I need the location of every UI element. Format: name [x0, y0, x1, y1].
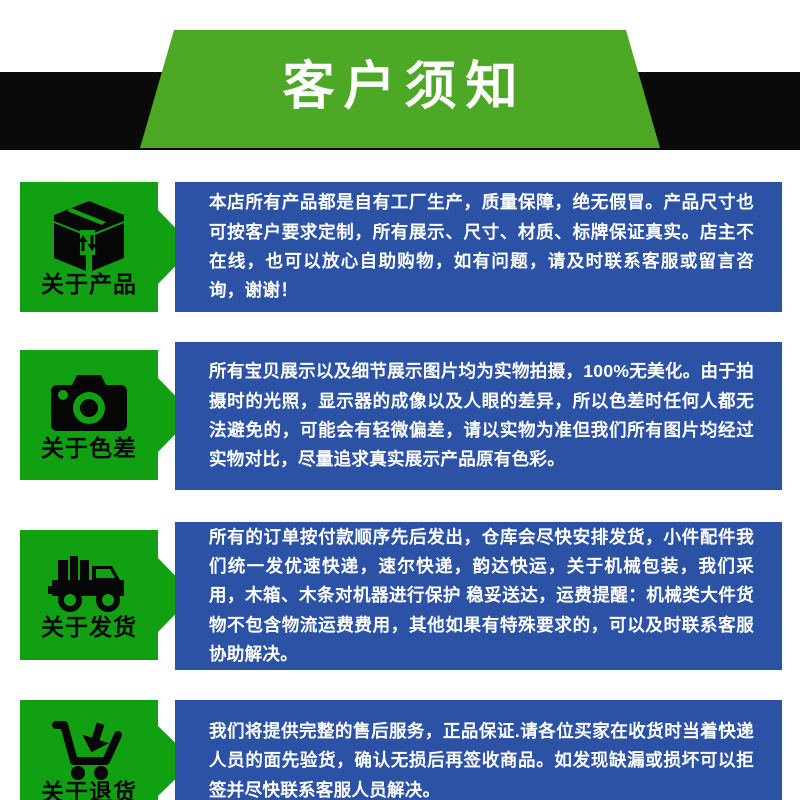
- text-panel-return: 我们将提供完整的售后服务，正品保证.请各位买家在收货时当着快递人员的面先验货，确…: [175, 700, 782, 800]
- package-box-icon: [20, 199, 158, 273]
- panel-text: 我们将提供完整的售后服务，正品保证.请各位买家在收货时当着快递人员的面先验货，确…: [175, 717, 782, 800]
- label-text: 关于发货: [41, 616, 137, 639]
- panel-text: 本店所有产品都是自有工厂生产，质量保障，绝无假冒。产品尺寸也可按客户要求定制，所…: [175, 188, 782, 306]
- label-text: 关于退货: [41, 781, 137, 800]
- notice-row: 关于色差 所有宝贝展示以及细节展示图片均为实物拍摄，100%无美化。由于拍摄时的…: [0, 338, 800, 498]
- ribbon-green-trapezoid: 客户须知: [140, 30, 660, 148]
- forklift-truck-icon: [20, 552, 158, 616]
- page-title: 客户须知: [273, 61, 526, 117]
- label-text: 关于产品: [41, 273, 137, 296]
- header-banner: 客户须知: [0, 0, 800, 168]
- notice-row: 关于退货 我们将提供完整的售后服务，正品保证.请各位买家在收货时当着快递人员的面…: [0, 698, 800, 800]
- notice-row: 关于产品 本店所有产品都是自有工厂生产，质量保障，绝无假冒。产品尺寸也可按客户要…: [0, 168, 800, 318]
- notice-row: 关于发货 所有的订单按付款顺序先后发出，仓库会尽快安排发货，小件配件我们统一发优…: [0, 518, 800, 678]
- label-box-color[interactable]: 关于色差: [20, 350, 158, 480]
- label-text: 关于色差: [41, 437, 137, 460]
- panel-text: 所有宝贝展示以及细节展示图片均为实物拍摄，100%无美化。由于拍摄时的光照，显示…: [175, 357, 782, 475]
- panel-text: 所有的订单按付款顺序先后发出，仓库会尽快安排发货，小件配件我们统一发优速快递，速…: [175, 523, 782, 670]
- label-box-product[interactable]: 关于产品: [20, 182, 158, 312]
- text-panel-shipping: 所有的订单按付款顺序先后发出，仓库会尽快安排发货，小件配件我们统一发优速快递，速…: [175, 522, 782, 670]
- camera-icon: [20, 371, 158, 437]
- return-cart-icon: [20, 719, 158, 781]
- customer-notice-page: 客户须知: [0, 0, 800, 800]
- text-panel-color: 所有宝贝展示以及细节展示图片均为实物拍摄，100%无美化。由于拍摄时的光照，显示…: [175, 342, 782, 490]
- notice-rows: 关于产品 本店所有产品都是自有工厂生产，质量保障，绝无假冒。产品尺寸也可按客户要…: [0, 168, 800, 800]
- label-box-return[interactable]: 关于退货: [20, 700, 158, 800]
- text-panel-product: 本店所有产品都是自有工厂生产，质量保障，绝无假冒。产品尺寸也可按客户要求定制，所…: [175, 182, 782, 312]
- label-box-shipping[interactable]: 关于发货: [20, 530, 158, 660]
